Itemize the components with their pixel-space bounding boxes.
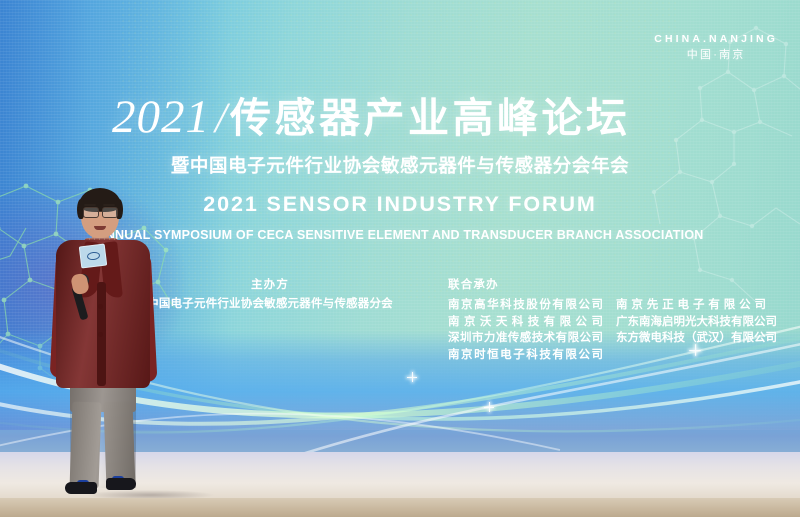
eyeglasses-icon [102,207,118,218]
title-main-cn: 传感器产业高峰论坛 [230,94,631,142]
co-organizer-name: 东方微电科技（武汉）有限公司 [616,329,766,346]
co-organizer-block: 联合承办 南京高华科技股份有限公司 南京沃天科技有限公司 深圳市力准传感技术有限… [448,276,766,362]
eyeglasses-bridge [97,211,102,212]
co-organizer-name: 深圳市力准传感技术有限公司 [448,329,603,346]
venue-tag-en: CHINA.NANJING [654,32,778,46]
speaker-left-shoe [65,482,97,494]
speaker-trouser-shading [70,376,136,488]
speaker-eyebrow [103,204,115,206]
venue-tag-cn: 中国·南京 [654,48,778,62]
sparkle-icon [484,402,494,412]
page-title: 2021/传感器产业高峰论坛 [112,84,732,144]
speaker-figure [44,186,176,506]
co-organizer-heading: 联合承办 [448,276,766,292]
venue-tag: CHINA.NANJING 中国·南京 [654,32,778,62]
sparkle-icon [407,372,417,382]
co-organizer-column-1: 南京高华科技股份有限公司 南京沃天科技有限公司 深圳市力准传感技术有限公司 南京… [448,296,603,362]
co-organizer-name: 南京沃天科技有限公司 [448,313,603,330]
co-organizer-name: 南京高华科技股份有限公司 [448,296,603,313]
speaker-jacket-button [98,304,103,309]
co-organizer-name: 广东南海启明光大科技有限公司 [616,313,766,330]
co-organizer-name: 南京先正电子有限公司 [616,296,766,313]
conference-photo: CHINA.NANJING 中国·南京 2021/传感器产业高峰论坛 暨中国电子… [0,0,800,517]
speaker-mouth [94,226,106,230]
speaker-jacket-button [98,332,103,337]
co-organizer-name: 南京时恒电子科技有限公司 [448,346,603,363]
eyeglasses-icon [83,207,99,218]
speaker-eyebrow [84,204,96,206]
co-organizer-column-2: 南京先正电子有限公司 广东南海启明光大科技有限公司 东方微电科技（武汉）有限公司 [616,296,766,362]
speaker-right-shoe [106,478,136,490]
title-year: 2021 [112,91,210,143]
subtitle-cn: 暨中国电子元件行业协会敏感元器件与传感器分会年会 [0,152,800,178]
title-separator: / [215,95,227,142]
